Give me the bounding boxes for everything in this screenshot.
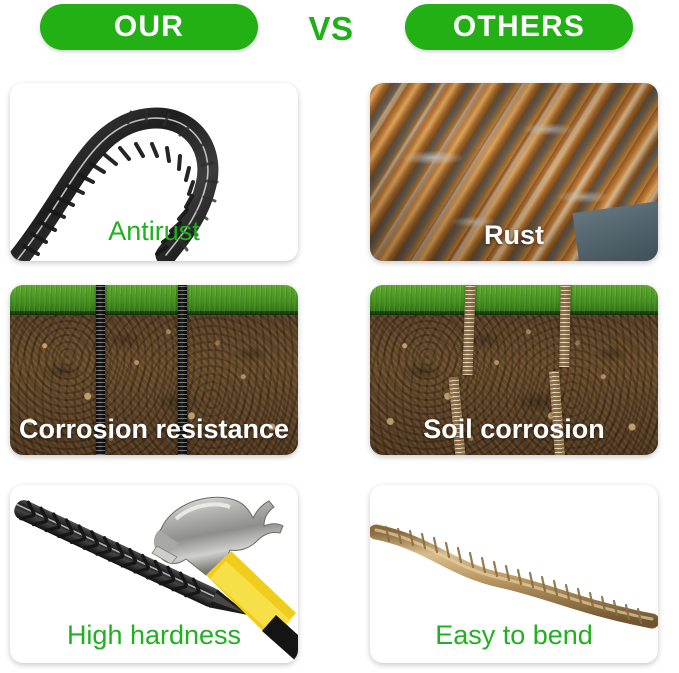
- others-badge-label: OTHERS: [453, 12, 585, 42]
- grass-layer: [10, 285, 298, 315]
- card-caption: Soil corrosion: [370, 416, 658, 443]
- card-others-easy-to-bend: Easy to bend: [370, 485, 658, 663]
- our-badge: OUR: [40, 4, 258, 50]
- grass-layer: [370, 285, 658, 315]
- card-caption: Antirust: [10, 218, 298, 245]
- card-others-rust: Rust: [370, 83, 658, 261]
- card-others-soil-corrosion: Soil corrosion: [370, 285, 658, 455]
- card-our-antirust: Antirust: [10, 83, 298, 261]
- vs-label: VS: [296, 8, 366, 48]
- card-caption: Easy to bend: [370, 622, 658, 649]
- comparison-header: OUR VS OTHERS: [0, 0, 679, 70]
- card-caption: Rust: [370, 222, 658, 249]
- card-caption: High hardness: [10, 622, 298, 649]
- rusted-stake-right-upper: [559, 285, 570, 367]
- card-caption: Corrosion resistance: [10, 416, 298, 443]
- card-our-corrosion-resistance: Corrosion resistance: [10, 285, 298, 455]
- card-our-high-hardness: High hardness: [10, 485, 298, 663]
- hammer-head: [152, 497, 283, 575]
- others-badge: OTHERS: [405, 4, 633, 50]
- our-badge-label: OUR: [114, 12, 184, 42]
